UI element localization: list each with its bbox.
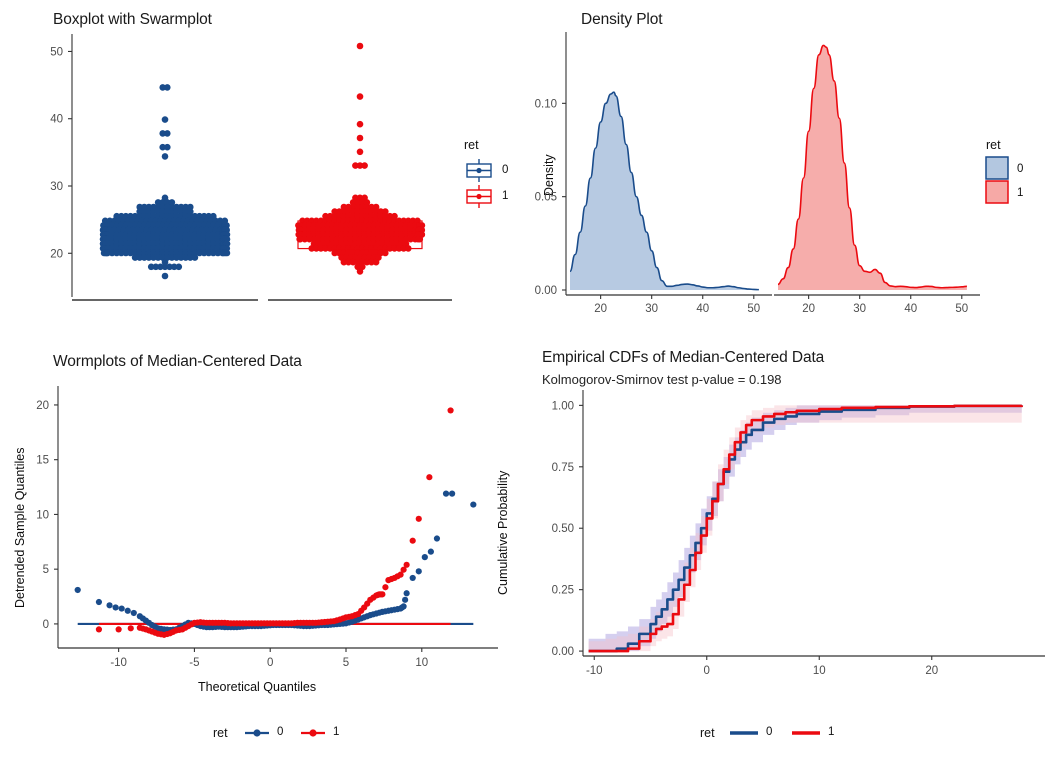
- density-y-axis: 0.000.050.10: [535, 32, 566, 297]
- swarm-point: [357, 268, 364, 275]
- ecdf-canvas: 0.000.250.500.751.00-1001020: [528, 330, 1056, 768]
- ecdf-xtick: 0: [704, 665, 710, 677]
- wormplot-ytick: 10: [36, 509, 49, 521]
- swarm-point: [176, 264, 183, 271]
- legend-key-ecdf-lines[interactable]: [728, 722, 858, 744]
- wormplot-point: [96, 599, 102, 605]
- swarm-point: [357, 43, 364, 50]
- swarm-point: [415, 236, 422, 243]
- swarm-point: [373, 259, 380, 266]
- density-xtick: 20: [802, 303, 815, 315]
- wormplot-point: [449, 491, 455, 497]
- swarm-group-1: [295, 43, 425, 275]
- wormplot-xtick: 0: [267, 657, 273, 669]
- wormplot-point: [125, 608, 131, 614]
- wormplot-point: [402, 597, 408, 603]
- panel-wormplot: Wormplots of Median-Centered Data Detren…: [0, 330, 528, 768]
- wormplot-point: [379, 591, 385, 597]
- legend-label-ecdf-0: 0: [766, 726, 772, 738]
- swarm-point: [164, 84, 171, 91]
- density-xtick: 50: [747, 303, 760, 315]
- wormplot-point: [75, 587, 81, 593]
- wormplot-xtick: -5: [189, 657, 199, 669]
- boxplot-groups: [100, 43, 426, 280]
- ecdf-ytick: 0.25: [552, 585, 574, 597]
- density-xtick: 20: [594, 303, 607, 315]
- wormplot-point: [416, 516, 422, 522]
- wormplot-point: [416, 568, 422, 574]
- swarm-point: [357, 93, 364, 100]
- density-facet-1: 20304050: [774, 45, 980, 315]
- swarm-point: [357, 149, 364, 156]
- boxplot-axes: 20304050: [50, 34, 452, 300]
- ecdf-confidence-bands: [589, 405, 1022, 651]
- boxplot-ytick: 30: [50, 181, 63, 193]
- wormplot-point: [96, 626, 102, 632]
- wormplot-canvas: 05101520-10-50510: [0, 330, 528, 768]
- ecdf-ytick: 0.75: [552, 462, 574, 474]
- ecdf-xtick: -10: [586, 665, 603, 677]
- boxplot-ytick: 50: [50, 46, 63, 58]
- wormplot-xtick: 10: [415, 657, 428, 669]
- density-ytick: 0.10: [535, 98, 557, 110]
- wormplot-point: [470, 501, 476, 507]
- legend-label-ecdf-1: 1: [828, 726, 834, 738]
- ecdf-xtick: 10: [813, 665, 826, 677]
- wormplot-point: [116, 626, 122, 632]
- wormplot-point: [106, 602, 112, 608]
- density-xtick: 30: [853, 303, 866, 315]
- swarm-point: [361, 162, 368, 169]
- swarm-point: [192, 254, 199, 261]
- boxplot-swarmplot-canvas: 20304050: [0, 0, 528, 330]
- boxplot-ytick: 20: [50, 248, 63, 260]
- wormplot-point: [131, 610, 137, 616]
- wormplot-point: [410, 575, 416, 581]
- swarm-point: [162, 273, 169, 280]
- legend-title-ecdf: ret: [700, 726, 715, 740]
- wormplot-point: [382, 584, 388, 590]
- density-area: [570, 92, 759, 290]
- wormplot-point: [113, 604, 119, 610]
- swarm-group-0: [100, 84, 231, 279]
- swarm-point: [357, 121, 364, 128]
- wormplot-point: [410, 538, 416, 544]
- swarm-point: [382, 250, 389, 257]
- figure-grid: Boxplot with Swarmplot 20304050 ret 0 1: [0, 0, 1056, 768]
- wormplot-point: [422, 554, 428, 560]
- legend-label-wormplot-1: 1: [333, 726, 339, 738]
- density-facet-0: 20304050: [566, 92, 772, 315]
- wormplot-point: [404, 562, 410, 568]
- legend-label-density-0: 0: [1017, 163, 1023, 175]
- wormplot-point: [447, 407, 453, 413]
- axis-title-ecdf-y: Cumulative Probability: [496, 471, 510, 595]
- wormplot-point: [128, 625, 134, 631]
- wormplot-point: [119, 605, 125, 611]
- legend-label-boxplot-1: 1: [502, 190, 508, 202]
- legend-label-boxplot-0: 0: [502, 164, 508, 176]
- wormplot-point: [434, 535, 440, 541]
- ecdf-ytick: 0.00: [552, 646, 574, 658]
- ecdf-xtick: 20: [925, 665, 938, 677]
- legend-label-density-1: 1: [1017, 187, 1023, 199]
- wormplot-point: [404, 590, 410, 596]
- wormplot-xtick: 5: [343, 657, 349, 669]
- wormplot-xtick: -10: [110, 657, 127, 669]
- density-plot-canvas: 20304050203040500.000.050.10: [528, 0, 1056, 330]
- wormplot-point: [428, 549, 434, 555]
- legend-title-boxplot: ret: [464, 138, 479, 152]
- swarm-point: [357, 135, 364, 142]
- wormplot-ytick: 5: [43, 564, 49, 576]
- ecdf-ytick: 1.00: [552, 400, 574, 412]
- swarm-point: [164, 130, 171, 137]
- swarm-point: [162, 153, 169, 160]
- wormplot-points-0: [75, 491, 477, 634]
- density-xtick: 50: [955, 303, 968, 315]
- density-xtick: 30: [645, 303, 658, 315]
- wormplot-point: [426, 474, 432, 480]
- swarm-point: [164, 144, 171, 151]
- density-xtick: 40: [904, 303, 917, 315]
- legend-label-wormplot-0: 0: [277, 726, 283, 738]
- wormplot-point: [401, 603, 407, 609]
- wormplot-point: [443, 491, 449, 497]
- density-ytick: 0.05: [535, 192, 557, 204]
- density-ytick: 0.00: [535, 285, 557, 297]
- wormplot-ytick: 20: [36, 400, 49, 412]
- wormplot-series: [75, 407, 477, 638]
- wormplot-ytick: 0: [43, 619, 49, 631]
- panel-boxplot-swarmplot: Boxplot with Swarmplot 20304050 ret 0 1: [0, 0, 528, 330]
- density-xtick: 40: [696, 303, 709, 315]
- wormplot-ytick: 15: [36, 455, 49, 467]
- boxplot-ytick: 40: [50, 114, 63, 126]
- legend-title-density: ret: [986, 138, 1001, 152]
- ecdf-band-0: [589, 405, 1022, 651]
- panel-density-plot: Density Plot Density 20304050203040500.0…: [528, 0, 1056, 330]
- wormplot-points-1: [96, 407, 454, 638]
- ecdf-ytick: 0.50: [552, 523, 574, 535]
- legend-key-boxplot-glyphs[interactable]: [462, 158, 496, 210]
- panel-ecdf: Empirical CDFs of Median-Centered Data K…: [528, 330, 1056, 768]
- density-area: [778, 45, 967, 290]
- legend-title-wormplot: ret: [213, 726, 228, 740]
- swarm-point: [162, 116, 169, 123]
- legend-key-density-swatches[interactable]: [984, 156, 1010, 208]
